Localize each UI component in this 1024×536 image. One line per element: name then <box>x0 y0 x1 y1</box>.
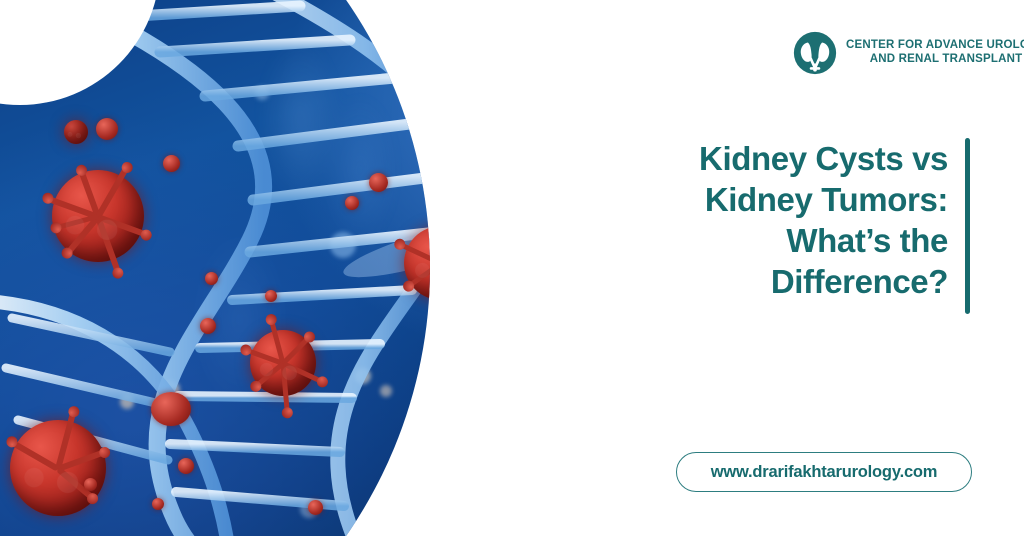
brand-logo[interactable]: CENTER FOR ADVANCE UROLOGY AND RENAL TRA… <box>793 31 1024 75</box>
virus-cell <box>52 170 144 262</box>
virus-cell <box>10 420 106 516</box>
virus-spike <box>440 261 481 287</box>
virus-spike <box>95 165 129 218</box>
virus-spike <box>439 263 446 317</box>
virus-minidot <box>205 272 218 285</box>
page-title-line-2: Kidney Tumors: <box>618 179 948 220</box>
page-title: Kidney Cysts vs Kidney Tumors: What’s th… <box>618 138 948 302</box>
virus-spike <box>97 214 148 237</box>
virus-spike <box>439 228 480 265</box>
brand-name-line-2: AND RENAL TRANSPLANT <box>870 53 1023 67</box>
virus-spike <box>65 215 100 256</box>
virus-minidot <box>308 500 323 515</box>
virus-cell <box>404 226 478 300</box>
brand-name-line-1: CENTER FOR ADVANCE UROLOGY <box>846 39 1024 53</box>
virus-minidot <box>447 293 461 307</box>
page-title-line-3: What’s the <box>618 220 948 261</box>
virus-minidot <box>200 318 216 334</box>
virus-spike <box>55 214 99 230</box>
virus-minidot <box>345 196 359 210</box>
virus-spike <box>10 439 60 471</box>
virus-spike <box>245 347 284 365</box>
virus-spike <box>46 196 99 220</box>
virus-spike <box>78 169 101 218</box>
virus-spike <box>433 222 444 264</box>
virus-minidot <box>265 290 277 302</box>
virus-minidot <box>84 478 97 491</box>
bokeh-dot <box>480 148 502 170</box>
kidney-urology-emblem-icon <box>793 31 837 75</box>
virus-spike <box>57 449 106 472</box>
virus-spike <box>254 362 285 389</box>
virus-cell <box>64 120 88 144</box>
virus-cell <box>250 330 316 396</box>
page-title-line-1: Kidney Cysts vs <box>618 138 948 179</box>
virus-spike <box>407 261 443 288</box>
website-url-text: www.drarifakhtarurology.com <box>711 463 938 482</box>
title-accent-bar <box>965 138 970 314</box>
virus-minidot <box>163 155 180 172</box>
virus-minidot <box>178 458 194 474</box>
virus-minidot <box>424 362 437 375</box>
page-title-line-4: Difference? <box>618 261 948 302</box>
virus-minidot <box>96 118 118 140</box>
virus-minidot <box>369 173 388 192</box>
blog-banner: CENTER FOR ADVANCE UROLOGY AND RENAL TRA… <box>0 0 1024 536</box>
virus-minidot <box>530 96 542 108</box>
website-url-badge[interactable]: www.drarifakhtarurology.com <box>676 452 972 492</box>
virus-minidot <box>455 206 468 219</box>
virus-minidot <box>151 392 191 426</box>
virus-minidot <box>152 498 164 510</box>
virus-spike <box>281 335 311 365</box>
virus-spike <box>398 242 442 266</box>
brand-logo-text: CENTER FOR ADVANCE UROLOGY AND RENAL TRA… <box>846 39 1024 66</box>
